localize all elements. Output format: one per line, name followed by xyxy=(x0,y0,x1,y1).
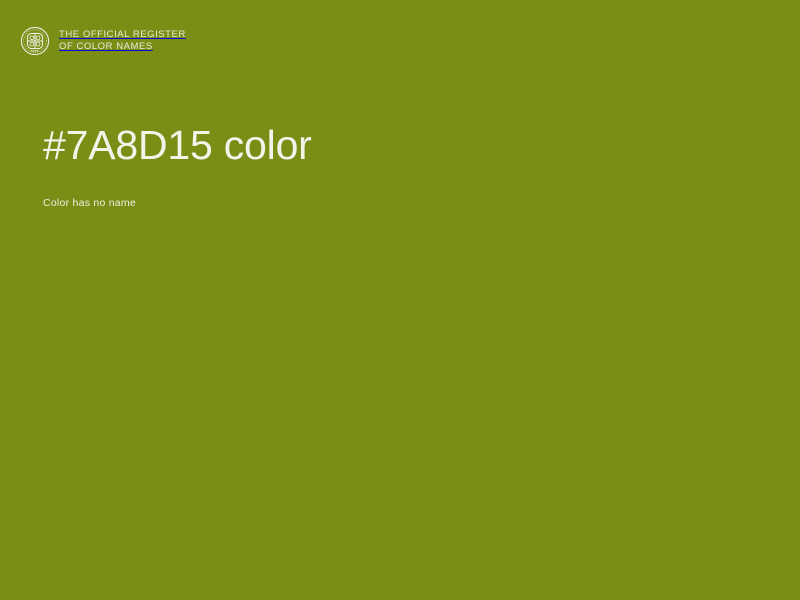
color-info-block: #7A8D15 color Color has no name xyxy=(43,120,760,209)
color-name-status: Color has no name xyxy=(43,171,760,209)
brand-line-2: OF COLOR NAMES xyxy=(59,41,186,53)
brand-logo-link[interactable]: THE OFFICIAL REGISTER OF COLOR NAMES xyxy=(19,25,186,57)
brand-line-1: THE OFFICIAL REGISTER xyxy=(59,29,186,41)
brand-text: THE OFFICIAL REGISTER OF COLOR NAMES xyxy=(59,29,186,52)
page-title: #7A8D15 color xyxy=(43,120,760,171)
color-page: THE OFFICIAL REGISTER OF COLOR NAMES #7A… xyxy=(0,0,800,600)
register-seal-icon xyxy=(19,25,51,57)
